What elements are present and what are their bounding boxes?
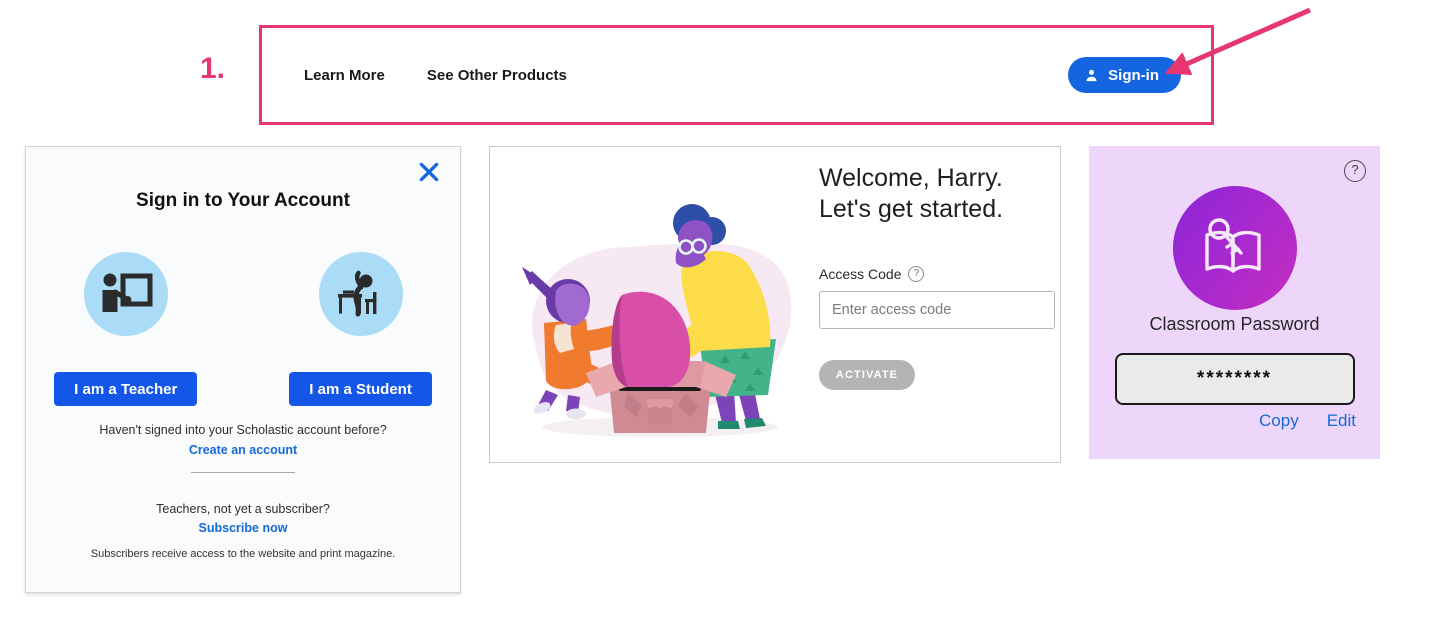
role-option-student: I am a Student xyxy=(289,252,432,406)
top-navbar: Learn More See Other Products Sign-in xyxy=(262,28,1211,122)
nav-link-learn-more[interactable]: Learn More xyxy=(304,67,385,84)
signin-button-label: Sign-in xyxy=(1108,67,1159,84)
question-mark-icon[interactable]: ? xyxy=(1344,160,1366,182)
step-number-1: 1. xyxy=(200,54,225,84)
access-code-label: Access Code xyxy=(819,266,901,282)
signin-button[interactable]: Sign-in xyxy=(1068,57,1181,93)
signin-modal-title: Sign in to Your Account xyxy=(26,190,460,212)
nav-link-see-other-products[interactable]: See Other Products xyxy=(427,67,567,84)
signin-modal: Sign in to Your Account I am a Teacher xyxy=(25,146,461,593)
i-am-a-student-button[interactable]: I am a Student xyxy=(289,372,432,406)
welcome-panel: Welcome, Harry. Let's get started. Acces… xyxy=(489,146,1061,463)
key-book-badge xyxy=(1173,186,1297,310)
classroom-password-value[interactable]: ******** xyxy=(1115,353,1355,405)
access-code-label-row: Access Code ? xyxy=(819,266,1050,282)
student-icon xyxy=(333,268,389,320)
teacher-icon-circle[interactable] xyxy=(84,252,168,336)
password-actions: Copy Edit xyxy=(1259,411,1356,431)
modal-divider xyxy=(191,472,295,473)
close-icon[interactable] xyxy=(416,159,442,185)
access-code-input[interactable] xyxy=(819,291,1055,329)
subscriber-prompt-text: Teachers, not yet a subscriber? xyxy=(26,502,460,516)
person-icon xyxy=(1084,68,1099,83)
teacher-icon xyxy=(97,268,155,320)
have-account-text: Haven't signed into your Scholastic acco… xyxy=(26,423,460,437)
subscriber-note-text: Subscribers receive access to the websit… xyxy=(26,547,460,562)
people-unpacking-box-illustration xyxy=(500,195,820,457)
key-book-icon xyxy=(1197,213,1273,283)
activate-button[interactable]: ACTIVATE xyxy=(819,360,915,390)
edit-password-link[interactable]: Edit xyxy=(1327,411,1356,431)
classroom-password-card: ? Classroom Password ******** Copy Edit xyxy=(1089,146,1380,459)
copy-password-link[interactable]: Copy xyxy=(1259,411,1299,431)
classroom-password-label: Classroom Password xyxy=(1089,314,1380,335)
create-account-link[interactable]: Create an account xyxy=(26,443,460,457)
question-mark-icon[interactable]: ? xyxy=(908,266,924,282)
role-option-teacher: I am a Teacher xyxy=(54,252,197,406)
student-icon-circle[interactable] xyxy=(319,252,403,336)
welcome-heading: Welcome, Harry. Let's get started. xyxy=(819,163,1050,224)
welcome-panel-right: Welcome, Harry. Let's get started. Acces… xyxy=(819,147,1060,462)
subscribe-now-link[interactable]: Subscribe now xyxy=(26,521,460,535)
i-am-a-teacher-button[interactable]: I am a Teacher xyxy=(54,372,197,406)
role-selection-group: I am a Teacher I am a Student xyxy=(26,252,460,406)
